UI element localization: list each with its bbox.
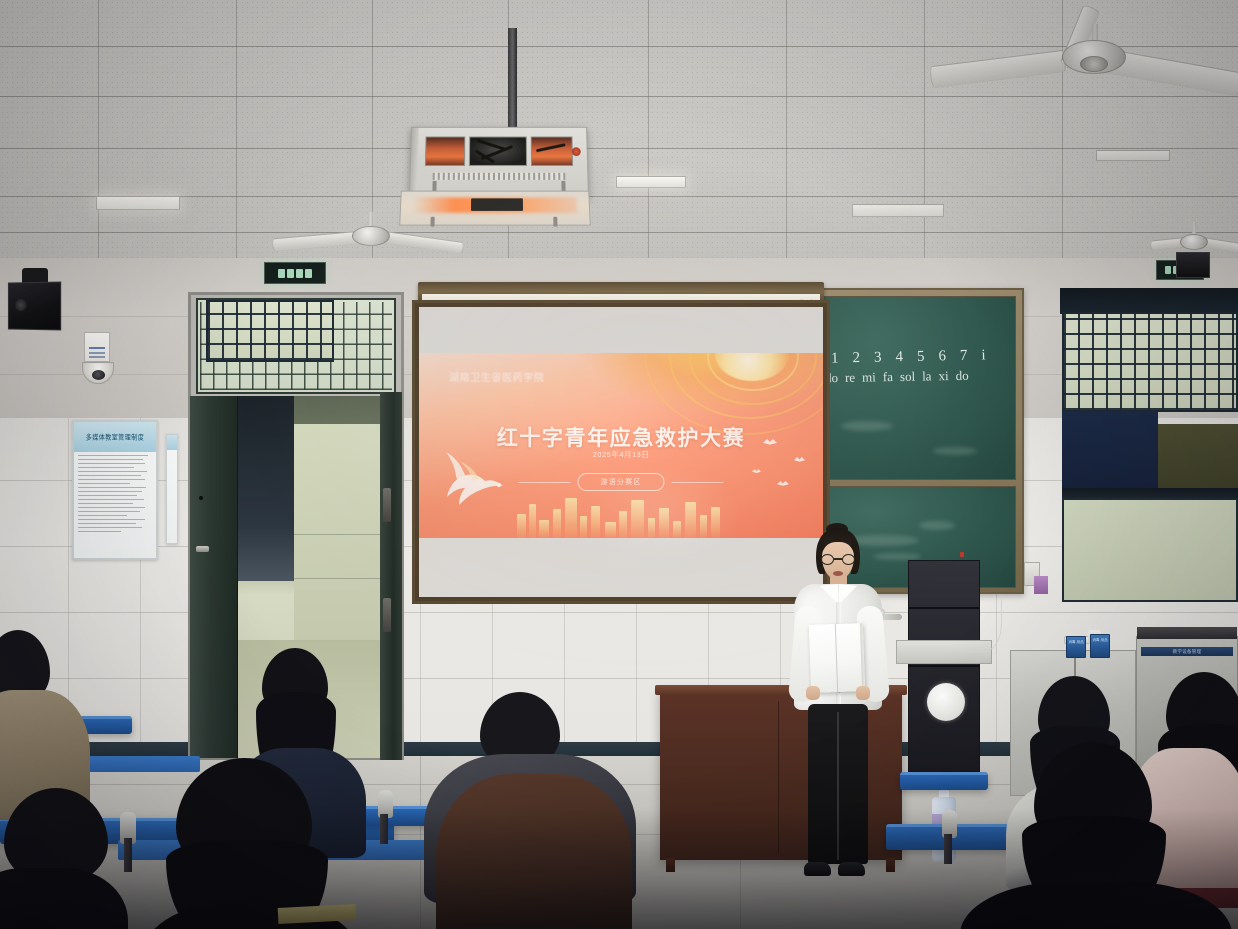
presenter-hand-right xyxy=(856,686,870,700)
ceiling-light-fixture xyxy=(96,196,180,210)
audience-member xyxy=(0,788,120,929)
window-grille-left xyxy=(206,300,334,362)
hanging-cable xyxy=(966,596,1002,652)
audience-member xyxy=(960,742,1230,929)
ceiling-light-fixture xyxy=(852,204,944,217)
presenter-shoe xyxy=(838,862,865,876)
pill-rule-right xyxy=(672,482,724,483)
presenter xyxy=(782,528,894,898)
presenter-shoe xyxy=(804,862,831,876)
wall-notice-board-secondary xyxy=(166,434,178,544)
stand-indicator-light xyxy=(927,683,965,721)
slide-pill-label: 游语分赛区 xyxy=(578,473,665,491)
disinfectant-box: 消毒 用品 xyxy=(1066,636,1086,658)
ceiling-light-fixture xyxy=(616,176,686,188)
presenter-script-papers xyxy=(809,623,865,693)
audience-member xyxy=(148,758,358,929)
window-olive-panel xyxy=(1158,424,1238,490)
disinfectant-box-label: 消毒 用品 xyxy=(1092,638,1108,642)
projector-indicator-light xyxy=(572,147,581,156)
window-glass-lower xyxy=(1062,498,1238,602)
wall-notice-board: 多媒体教室管理制度 xyxy=(72,420,158,560)
projection-screen: Mediacal 湖南卫生省医药学院 红十字青年应急救护大赛 2025年4月13… xyxy=(412,282,830,604)
audience-member xyxy=(0,630,110,810)
chalkboard-magnet xyxy=(960,552,964,557)
skyline-graphic xyxy=(419,492,823,538)
chalkboard-number-row: 1 2 3 4 5 6 7 i xyxy=(831,347,986,367)
small-bird-icon xyxy=(777,481,789,487)
pill-rule-left xyxy=(519,482,571,483)
ceiling-light-fixture xyxy=(1096,150,1170,161)
chalkboard-panel-top: 1 2 3 4 5 6 7 i do re mi fa sol la xi do xyxy=(814,296,1016,480)
presenter-hand-left xyxy=(806,686,820,700)
disinfectant-box-label: 消毒 用品 xyxy=(1068,640,1084,644)
presenter-trousers xyxy=(808,704,868,864)
wall-speaker-left xyxy=(8,281,61,330)
audience-member xyxy=(436,736,632,929)
projector-mount-pole xyxy=(508,28,517,130)
chalkboard-solfege-row: do re mi fa sol la xi do xyxy=(825,368,969,387)
slide-school-name: 湖南卫生省医药学院 xyxy=(449,369,544,384)
photo-scene: 多媒体教室管理制度 xyxy=(0,0,1238,929)
surveillance-placard xyxy=(84,332,110,362)
exit-sign-left-label xyxy=(278,269,312,278)
disinfectant-box: 消毒 用品 xyxy=(1090,634,1110,658)
glasses-icon xyxy=(821,554,855,565)
ceiling-projector-cage xyxy=(409,127,589,198)
wall-speaker-right xyxy=(1176,252,1210,278)
slide-pill-row: 游语分赛区 xyxy=(519,473,724,491)
window-blue-panel xyxy=(1062,412,1158,490)
purple-wall-fixture xyxy=(1034,576,1048,594)
exit-sign-left xyxy=(264,262,326,284)
projector-body xyxy=(399,191,591,226)
screen-frame: 湖南卫生省医药学院 红十字青年应急救护大赛 2025年4月13日 游语分赛区 xyxy=(412,300,830,604)
slide-content: 湖南卫生省医药学院 红十字青年应急救护大赛 2025年4月13日 游语分赛区 xyxy=(419,353,823,538)
small-bird-icon xyxy=(752,469,761,474)
screen-surface: 湖南卫生省医药学院 红十字青年应急救护大赛 2025年4月13日 游语分赛区 xyxy=(419,307,823,597)
media-equipment-stand xyxy=(908,560,980,772)
window-grille-right xyxy=(1062,312,1238,412)
window-header-dark xyxy=(1060,288,1238,314)
ceiling-fan-right xyxy=(952,4,1238,116)
window-divider-dark xyxy=(1062,488,1238,498)
door-panel-edge[interactable] xyxy=(380,392,402,760)
notice-title: 多媒体教室管理制度 xyxy=(86,432,145,442)
cabinet-stripe-label: 教学设备管理 xyxy=(1141,647,1233,656)
